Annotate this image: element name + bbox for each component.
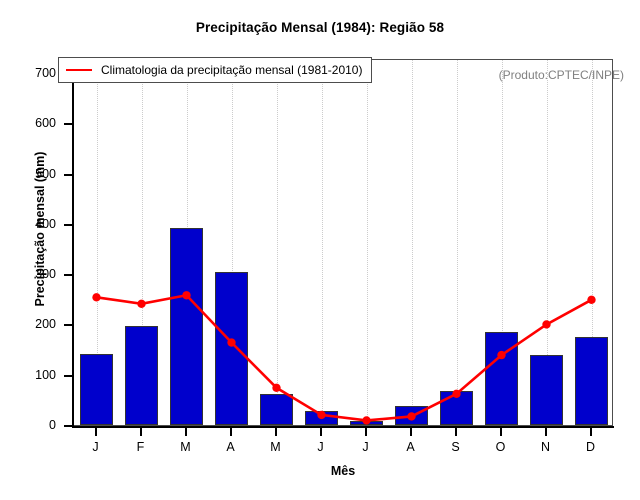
x-tick-label-j-0: J bbox=[81, 440, 111, 454]
x-tick bbox=[545, 428, 547, 436]
climatology-marker-f-1 bbox=[137, 300, 145, 308]
climatology-marker-m-4 bbox=[272, 384, 280, 392]
climatology-marker-a-3 bbox=[227, 338, 235, 346]
chart-title: Precipitação Mensal (1984): Região 58 bbox=[0, 20, 640, 35]
climatology-marker-m-2 bbox=[182, 291, 190, 299]
watermark-label: (Produto:CPTEC/INPE) bbox=[499, 68, 624, 82]
climatology-marker-j-5 bbox=[317, 411, 325, 419]
x-tick-label-a-3: A bbox=[216, 440, 246, 454]
climatology-marker-n-10 bbox=[542, 320, 550, 328]
y-tick bbox=[64, 324, 72, 326]
climatology-line-layer bbox=[74, 60, 612, 425]
x-tick bbox=[455, 428, 457, 436]
y-tick bbox=[64, 174, 72, 176]
climatology-line-svg bbox=[74, 60, 614, 427]
x-tick bbox=[95, 428, 97, 436]
x-tick-label-j-6: J bbox=[351, 440, 381, 454]
y-tick-label: 700 bbox=[16, 67, 56, 80]
climatology-marker-j-0 bbox=[92, 293, 100, 301]
x-tick-label-f-1: F bbox=[126, 440, 156, 454]
x-tick-label-o-9: O bbox=[486, 440, 516, 454]
x-tick bbox=[230, 428, 232, 436]
plot-area bbox=[73, 59, 613, 426]
legend-label-climatology: Climatologia da precipitação mensal (198… bbox=[101, 63, 362, 77]
y-tick bbox=[64, 123, 72, 125]
x-tick-label-j-5: J bbox=[306, 440, 336, 454]
x-tick bbox=[275, 428, 277, 436]
x-tick-label-s-8: S bbox=[441, 440, 471, 454]
y-tick bbox=[64, 425, 72, 427]
climatology-marker-j-6 bbox=[362, 416, 370, 424]
climatology-polyline bbox=[97, 295, 592, 420]
x-tick-label-n-10: N bbox=[531, 440, 561, 454]
legend: Climatologia da precipitação mensal (198… bbox=[58, 57, 372, 83]
y-tick bbox=[64, 224, 72, 226]
climatology-marker-s-8 bbox=[452, 390, 460, 398]
climatology-marker-o-9 bbox=[497, 351, 505, 359]
legend-line-swatch bbox=[66, 69, 92, 71]
x-tick bbox=[140, 428, 142, 436]
precipitation-chart-figure: Precipitação Mensal (1984): Região 58 01… bbox=[0, 0, 640, 500]
y-axis-line bbox=[72, 59, 74, 427]
x-tick-label-d-11: D bbox=[576, 440, 606, 454]
y-tick-label: 0 bbox=[16, 419, 56, 432]
x-tick bbox=[410, 428, 412, 436]
y-axis-title: Precipitação mensal (mm) bbox=[33, 79, 47, 379]
x-tick bbox=[500, 428, 502, 436]
climatology-marker-a-7 bbox=[407, 412, 415, 420]
x-tick bbox=[365, 428, 367, 436]
x-tick-label-a-7: A bbox=[396, 440, 426, 454]
x-tick bbox=[185, 428, 187, 436]
y-tick bbox=[64, 274, 72, 276]
climatology-marker-d-11 bbox=[587, 296, 595, 304]
x-tick bbox=[590, 428, 592, 436]
x-tick-label-m-2: M bbox=[171, 440, 201, 454]
y-tick bbox=[64, 375, 72, 377]
x-axis-title: Mês bbox=[73, 464, 613, 478]
x-axis-line bbox=[72, 426, 614, 428]
x-tick bbox=[320, 428, 322, 436]
x-tick-label-m-4: M bbox=[261, 440, 291, 454]
